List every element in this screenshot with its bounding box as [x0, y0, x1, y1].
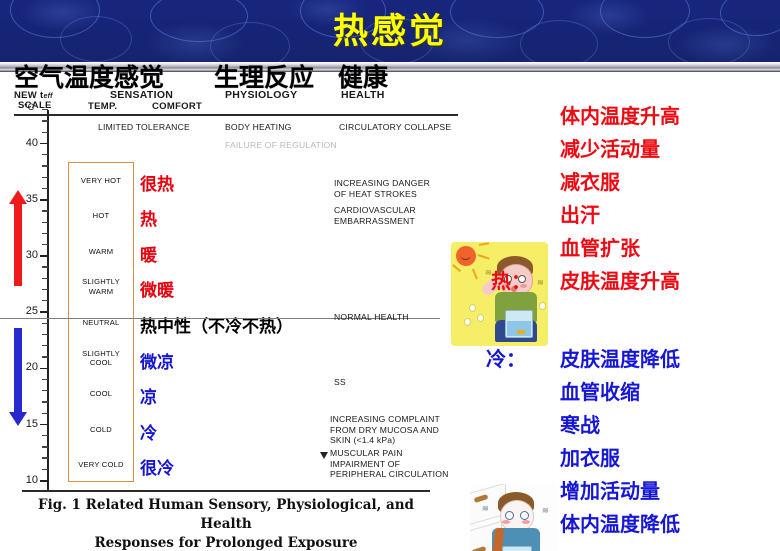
axis-tick-label: 25	[8, 305, 38, 317]
cold-panel-tag: 冷：	[486, 343, 526, 372]
slide-canvas: 热感觉 空气温度感觉 生理反应 健康 NEW teff SCALE SENSAT…	[0, 0, 780, 551]
axis-tick-minor	[42, 177, 48, 178]
sensation-label-en: NEUTRAL	[66, 318, 136, 328]
axis-tick-minor	[42, 457, 48, 458]
cold-wave: ≋	[482, 504, 489, 513]
axis-tick-minor	[42, 120, 48, 121]
axis-tick-label: 10	[8, 474, 38, 486]
response-line: 血管收缩	[560, 376, 640, 405]
response-line: 加衣服	[560, 442, 620, 471]
page-title: 热感觉	[0, 2, 780, 54]
sweat-drop	[477, 314, 484, 322]
axis-tick-major	[40, 311, 49, 313]
note-heat-strokes: INCREASING DANGER OF HEAT STROKES	[334, 178, 430, 199]
response-line: 皮肤温度升高	[560, 265, 680, 294]
axis-tick-minor	[42, 154, 48, 155]
axis-tick-minor	[42, 132, 48, 133]
axis-tick-minor	[42, 379, 48, 380]
arrow-shaft	[14, 202, 22, 286]
sensation-label-en: SLIGHTLY COOL	[66, 349, 136, 368]
water-cooler	[502, 546, 532, 551]
cold-person-illustration: \|/ ≋ ≋	[470, 484, 558, 551]
sun-ray	[478, 254, 490, 259]
note-body-heating: BODY HEATING	[225, 122, 292, 133]
axis-tick-minor	[42, 244, 48, 245]
down-marker-icon	[320, 452, 328, 459]
sweat-drop	[464, 318, 471, 326]
axis-tick-minor	[42, 435, 48, 436]
axis-tick-minor	[42, 300, 48, 301]
response-line: 增加活动量	[560, 475, 660, 504]
axis-tick-label: 40	[8, 137, 38, 149]
header-sensation-temp: TEMP.	[88, 101, 117, 112]
response-line: 体内温度升高	[560, 100, 680, 129]
sensation-label-cn: 热	[140, 205, 157, 230]
sweat-drop	[469, 304, 476, 312]
axis-tick-major	[40, 368, 49, 370]
sensation-label-cn: 很热	[140, 170, 174, 195]
axis-tick-minor	[42, 401, 48, 402]
axis-tick-minor	[42, 210, 48, 211]
axis-tick-major	[40, 199, 49, 201]
chinese-column-headings: 空气温度感觉 生理反应 健康	[0, 58, 780, 92]
sensation-label-cn: 冷	[140, 419, 157, 444]
axis-tick-major	[40, 424, 49, 426]
axis-tick-major	[40, 255, 49, 257]
note-limited-tolerance: LIMITED TOLERANCE	[98, 122, 190, 133]
sun-icon	[456, 246, 476, 266]
note-dry-mucosa: INCREASING COMPLAINT FROM DRY MUCOSA AND…	[330, 414, 440, 446]
note-ss: SS	[334, 377, 346, 388]
figure-caption: Fig. 1 Related Human Sensory, Physiologi…	[22, 496, 430, 551]
axis-tick-minor	[42, 356, 48, 357]
axis-tick-major	[40, 143, 49, 145]
eye	[505, 511, 514, 520]
header-scale-subscript: eff	[43, 93, 52, 100]
cooling-arrow-icon	[9, 328, 27, 426]
response-line: 减衣服	[560, 166, 620, 195]
axis-unit-label: °C	[24, 102, 34, 112]
note-normal-health: NORMAL HEALTH	[334, 312, 409, 323]
sweat-drop	[539, 302, 546, 310]
axis-tick-minor	[42, 334, 48, 335]
sensation-label-cn: 凉	[140, 383, 157, 408]
response-line: 出汗	[560, 199, 600, 228]
arrow-shaft	[14, 328, 22, 412]
sensation-label-en: VERY HOT	[66, 176, 136, 186]
sensation-label-cn: 微暖	[140, 276, 174, 301]
response-line: 血管扩张	[560, 232, 640, 261]
sensation-label-en: WARM	[66, 247, 136, 257]
cn-heading-physiology: 生理反应	[214, 58, 314, 94]
eye	[520, 511, 529, 520]
note-cardiovascular: CARDIOVASCULAR EMBARRASSMENT	[334, 205, 416, 226]
sensation-label-en: COOL	[66, 389, 136, 399]
cheek	[502, 520, 510, 524]
sensation-label-en: VERY COLD	[66, 460, 136, 470]
response-line: 减少活动量	[560, 133, 660, 162]
note-failure-of-regulation: FAILURE OF REGULATION	[225, 140, 337, 151]
sun-ray	[472, 268, 478, 279]
axis-tick-minor	[42, 266, 48, 267]
cn-heading-air-temp-sensation: 空气温度感觉	[14, 58, 164, 94]
warming-arrow-icon	[9, 190, 27, 288]
axis-tick-minor	[42, 222, 48, 223]
response-line: 寒战	[560, 409, 600, 438]
sensation-label-cn: 很冷	[140, 454, 174, 479]
cheek	[522, 520, 530, 524]
figure-area: NEW teff SCALE SENSATION TEMP. COMFORT P…	[0, 92, 780, 551]
header-rule	[14, 114, 458, 116]
caption-line: Fig. 1 Related Human Sensory, Physiologi…	[22, 496, 430, 534]
sensation-label-cn: 热中性（不冷不热）	[140, 312, 293, 337]
response-line: 皮肤温度降低	[560, 343, 680, 372]
hot-panel-tag: 热：	[491, 265, 531, 294]
response-line: 体内温度降低	[560, 508, 680, 537]
sensation-label-cn: 暖	[140, 241, 157, 266]
axis-tick-minor	[42, 446, 48, 447]
cold-wave: ≋	[542, 506, 549, 515]
sensation-label-cn: 微凉	[140, 348, 174, 373]
header-sensation-comfort: COMFORT	[152, 101, 202, 112]
sun-ray	[479, 242, 489, 245]
axis-tick-minor	[42, 413, 48, 414]
sensation-label-en: COLD	[66, 425, 136, 435]
note-circulatory-collapse: CIRCULATORY COLLAPSE	[339, 122, 451, 133]
note-muscular-pain: MUSCULAR PAIN IMPAIRMENT OF PERIPHERAL C…	[330, 448, 449, 480]
axis-tick-minor	[42, 469, 48, 470]
axis-tick-major	[40, 480, 49, 482]
axis-tick-minor	[42, 289, 48, 290]
axis-tick-minor	[42, 345, 48, 346]
cooler-tap	[517, 330, 525, 334]
cn-heading-health: 健康	[338, 58, 388, 94]
axis-tick-minor	[42, 188, 48, 189]
axis-tick-minor	[42, 165, 48, 166]
sensation-label-en: HOT	[66, 211, 136, 221]
axis-tick-minor	[42, 323, 48, 324]
hot-person-illustration: ≋ ≋	[451, 242, 548, 346]
axis-tick-minor	[42, 233, 48, 234]
sun-ray	[452, 264, 461, 272]
caption-line: Responses for Prolonged Exposure	[22, 534, 430, 551]
sensation-label-en: SLIGHTLY WARM	[66, 277, 136, 296]
arrow-head	[9, 412, 27, 426]
axis-tick-minor	[42, 278, 48, 279]
caption-rule	[22, 490, 430, 492]
axis-tick-minor	[42, 390, 48, 391]
axis-tick-minor	[42, 109, 48, 110]
heat-wave: ≋	[537, 278, 544, 287]
